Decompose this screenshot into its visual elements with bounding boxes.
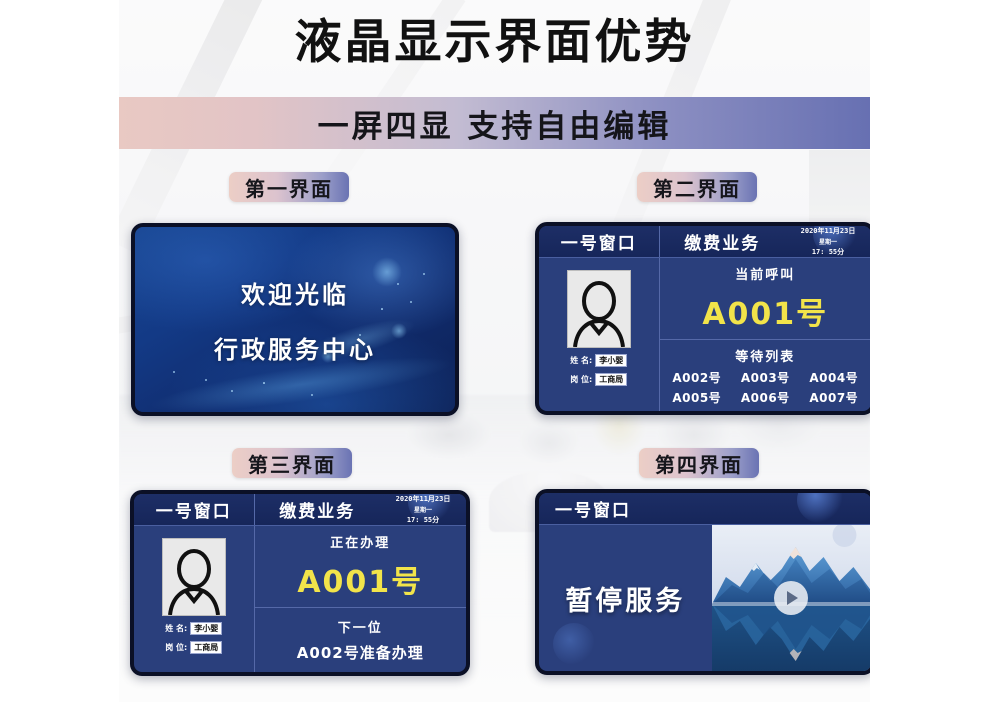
play-button-icon[interactable] bbox=[774, 581, 808, 615]
screen2-date: 2020年11月23日 bbox=[801, 226, 856, 236]
staff-post-value: 工商局 bbox=[595, 373, 627, 386]
screen-1-welcome: 欢迎光临 行政服务中心 bbox=[131, 223, 459, 416]
subtitle-banner: 一屏四显 支持自由编辑 bbox=[119, 97, 870, 149]
screen3-business-name: 缴费业务 bbox=[255, 494, 380, 525]
screen3-datetime: 2020年11月23日 星期一 17: 55分 bbox=[380, 494, 466, 525]
screen-4-paused: 一号窗口 暂停服务 bbox=[535, 489, 870, 675]
screen2-current-number: A001号 bbox=[702, 289, 828, 333]
screen2-weekday: 星期一 bbox=[819, 237, 837, 246]
staff-photo-icon bbox=[162, 538, 226, 616]
staff-post-value: 工商局 bbox=[190, 641, 222, 654]
screen3-next-label: 下一位 bbox=[338, 617, 383, 636]
staff-post-label: 岗 位: bbox=[165, 642, 187, 653]
staff-name-row: 姓 名: 李小婴 bbox=[570, 354, 627, 367]
staff-photo-icon bbox=[567, 270, 631, 348]
screen2-current-label: 当前呼叫 bbox=[735, 264, 795, 283]
screen2-header: 一号窗口 缴费业务 2020年11月23日 星期一 17: 55分 bbox=[539, 226, 870, 258]
staff-post-row: 岗 位: 工商局 bbox=[165, 641, 222, 654]
screen3-staff-panel: 姓 名: 李小婴 岗 位: 工商局 bbox=[134, 526, 255, 672]
screen3-weekday: 星期一 bbox=[414, 505, 432, 514]
screen3-window-name: 一号窗口 bbox=[134, 494, 255, 525]
screen4-status-text: 暂停服务 bbox=[565, 579, 685, 618]
screen2-current-call: 当前呼叫 A001号 bbox=[660, 258, 870, 340]
staff-name-label: 姓 名: bbox=[165, 623, 187, 634]
screen-2-queue-calling: 一号窗口 缴费业务 2020年11月23日 星期一 17: 55分 bbox=[535, 222, 870, 415]
screen2-business-name: 缴费业务 bbox=[660, 226, 785, 257]
screen3-time: 17: 55分 bbox=[407, 515, 439, 525]
waiting-item: A004号 bbox=[803, 369, 866, 386]
staff-name-value: 李小婴 bbox=[595, 354, 627, 367]
screen4-window-name: 一号窗口 bbox=[555, 496, 631, 521]
screen2-waiting-label: 等待列表 bbox=[735, 346, 795, 365]
screen3-current-serving: 正在办理 A001号 bbox=[255, 526, 466, 608]
screen-3-queue-serving: 一号窗口 缴费业务 2020年11月23日 星期一 17: 55分 bbox=[130, 490, 470, 676]
screen3-current-number: A001号 bbox=[297, 557, 423, 601]
screen3-current-label: 正在办理 bbox=[330, 532, 390, 551]
screen3-header: 一号窗口 缴费业务 2020年11月23日 星期一 17: 55分 bbox=[134, 494, 466, 526]
screen4-status-panel: 暂停服务 bbox=[539, 525, 712, 671]
staff-name-value: 李小婴 bbox=[190, 622, 222, 635]
screen2-time: 17: 55分 bbox=[812, 247, 844, 257]
screen3-next-section: 下一位 A002号准备办理 bbox=[255, 608, 466, 672]
label-screen-1: 第一界面 bbox=[229, 172, 349, 202]
waiting-item: A003号 bbox=[734, 369, 797, 386]
screen2-staff-panel: 姓 名: 李小婴 岗 位: 工商局 bbox=[539, 258, 660, 411]
waiting-item: A002号 bbox=[666, 369, 728, 386]
staff-name-row: 姓 名: 李小婴 bbox=[165, 622, 222, 635]
welcome-line-1: 欢迎光临 bbox=[241, 275, 349, 310]
screen4-header: 一号窗口 bbox=[539, 493, 870, 525]
screen2-waiting-section: 等待列表 A002号 A003号 A004号 A005号 A006号 A007号 bbox=[660, 340, 870, 411]
screen3-next-text: A002号准备办理 bbox=[297, 642, 424, 663]
staff-post-row: 岗 位: 工商局 bbox=[570, 373, 627, 386]
welcome-line-2: 行政服务中心 bbox=[214, 330, 376, 365]
welcome-background: 欢迎光临 行政服务中心 bbox=[135, 227, 455, 412]
staff-name-label: 姓 名: bbox=[570, 355, 592, 366]
waiting-item: A007号 bbox=[803, 389, 866, 406]
staff-post-label: 岗 位: bbox=[570, 374, 592, 385]
poster-content: 液晶显示界面优势 一屏四显 支持自由编辑 第一界面 第二界面 第三界面 第四界面 bbox=[119, 0, 870, 702]
page-title: 液晶显示界面优势 bbox=[119, 16, 870, 70]
subtitle-text: 一屏四显 支持自由编辑 bbox=[318, 101, 672, 146]
screen2-waiting-grid: A002号 A003号 A004号 A005号 A006号 A007号 bbox=[666, 369, 865, 406]
screen2-window-name: 一号窗口 bbox=[539, 226, 660, 257]
poster-page: 液晶显示界面优势 一屏四显 支持自由编辑 第一界面 第二界面 第三界面 第四界面 bbox=[0, 0, 990, 702]
waiting-item: A006号 bbox=[734, 389, 797, 406]
screen3-date: 2020年11月23日 bbox=[396, 494, 451, 504]
waiting-item: A005号 bbox=[666, 389, 728, 406]
label-screen-4: 第四界面 bbox=[639, 448, 759, 478]
screen4-video-thumbnail[interactable] bbox=[712, 525, 870, 671]
label-screen-2: 第二界面 bbox=[637, 172, 757, 202]
screen2-datetime: 2020年11月23日 星期一 17: 55分 bbox=[785, 226, 870, 257]
label-screen-3: 第三界面 bbox=[232, 448, 352, 478]
